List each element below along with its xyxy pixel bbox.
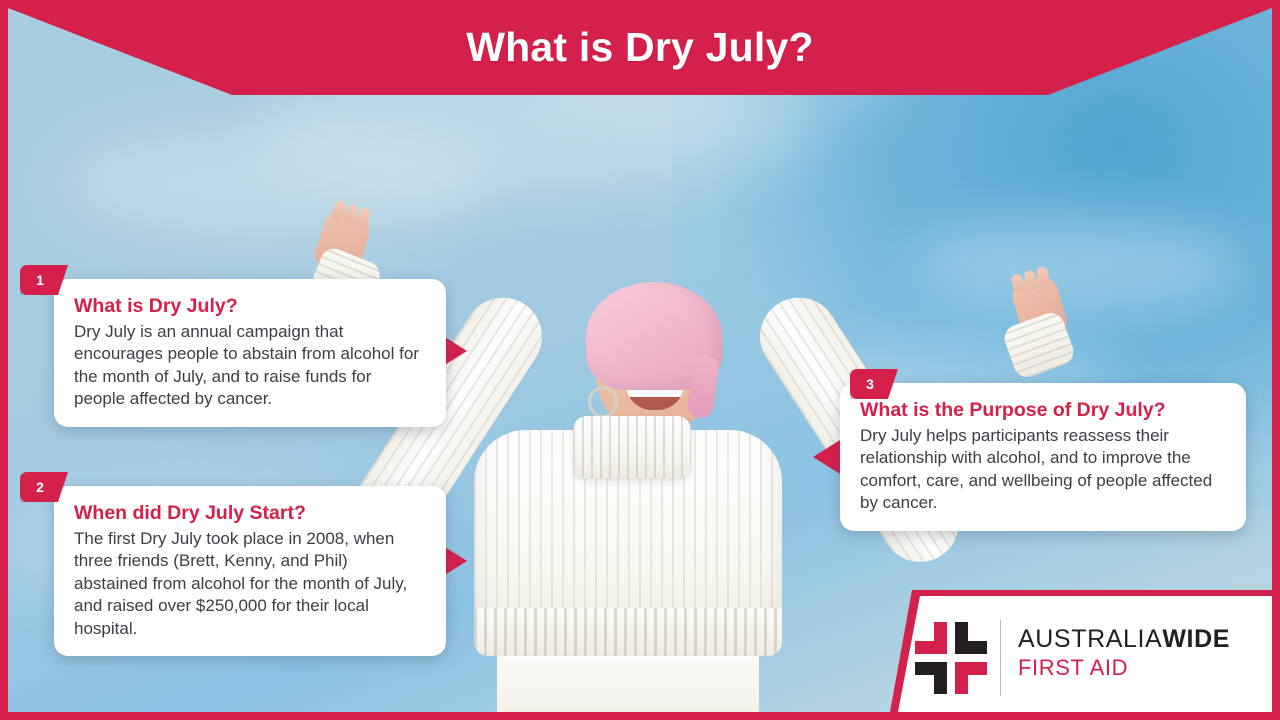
card-body-2: The first Dry July took place in 2008, w… [74, 528, 426, 640]
hoop-earring [588, 386, 618, 418]
card-body-3: Dry July helps participants reassess the… [860, 425, 1226, 515]
card-title-1: What is Dry July? [74, 293, 426, 319]
card-number-label-3: 3 [850, 369, 890, 399]
turtleneck-collar [573, 416, 691, 478]
logo-quadrant-bottom-right [955, 662, 987, 694]
card-number-label-2: 2 [20, 472, 60, 502]
card-title-2: When did Dry July Start? [74, 500, 426, 526]
card-pointer-3 [813, 440, 840, 474]
info-card-1[interactable]: What is Dry July? Dry July is an annual … [54, 279, 446, 427]
australia-wide-cross-icon [915, 622, 987, 694]
logo-wordmark: AUSTRALIAWIDE FIRST AID [1018, 624, 1268, 682]
infographic-poster: What is Dry July? What is Dry July? Dry … [0, 0, 1280, 720]
logo-tagline: FIRST AID [1018, 654, 1268, 682]
pink-head-wrap [586, 282, 722, 390]
jumper-hem [474, 608, 782, 656]
logo-quadrant-bottom-left [915, 662, 947, 694]
card-number-label-1: 1 [20, 265, 60, 295]
card-title-3: What is the Purpose of Dry July? [860, 397, 1226, 423]
info-card-2[interactable]: When did Dry July Start? The first Dry J… [54, 486, 446, 656]
logo-quadrant-top-right [955, 622, 987, 654]
logo-quadrant-top-left [915, 622, 947, 654]
info-card-3[interactable]: What is the Purpose of Dry July? Dry Jul… [840, 383, 1246, 531]
logo-divider [1000, 620, 1001, 696]
card-body-1: Dry July is an annual campaign that enco… [74, 321, 426, 411]
logo-name-light: AUSTRALIA [1018, 625, 1162, 653]
logo-name-heavy: WIDE [1162, 625, 1230, 653]
page-title: What is Dry July? [0, 8, 1280, 87]
